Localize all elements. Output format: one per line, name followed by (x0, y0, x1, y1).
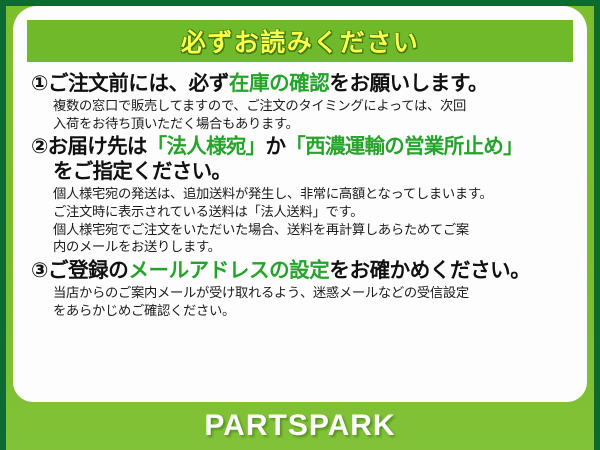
section-1-headline: ①ご注文前には、必ず在庫の確認をお願いします。 (31, 71, 567, 96)
section-3-headline: ③ご登録のメールアドレスの設定をお確かめください。 (31, 258, 567, 283)
notice-card: 必ずお読みください ①ご注文前には、必ず在庫の確認をお願いします。 複数の窓口で… (13, 6, 587, 402)
title-banner: 必ずお読みください (27, 20, 573, 62)
section-3-headline-post: をお確かめください。 (329, 259, 530, 282)
section-1-headline-pre: ご注文前には、必ず (48, 72, 229, 95)
section-2-headline-highlight: 「法人様宛」 (147, 135, 266, 158)
section-2-headline-post: をご指定ください。 (31, 159, 567, 184)
notice-body: 必ずお読みください ①ご注文前には、必ず在庫の確認をお願いします。 複数の窓口で… (6, 6, 594, 450)
title-text: 必ずお読みください (181, 23, 420, 59)
section-item-3: ③ご登録のメールアドレスの設定をお確かめください。 当店からのご案内メールが受け… (31, 258, 567, 319)
section-1-marker: ① (31, 72, 48, 95)
brand-logo-text: PARTSPARK (204, 409, 395, 443)
section-1-subtext: 複数の窓口で販売してますので、ご注文のタイミングによっては、次回 入荷をお待ち頂… (31, 97, 567, 132)
section-2-headline-mid: か (265, 135, 285, 158)
footer-brand-bar: PARTSPARK (6, 402, 594, 450)
section-3-headline-highlight: メールアドレスの設定 (128, 259, 329, 282)
section-2-headline-highlight-2: 「西濃運輸の営業所止め」 (285, 135, 523, 158)
section-3-marker: ③ (31, 259, 48, 282)
section-3-subtext: 当店からのご案内メールが受け取れるよう、迷惑メールなどの受信設定 をあらかじめご… (31, 284, 567, 319)
section-item-1: ①ご注文前には、必ず在庫の確認をお願いします。 複数の窓口で販売してますので、ご… (31, 71, 567, 132)
section-2-headline-pre: お届け先は (48, 135, 147, 158)
section-1-headline-post: をお願いします。 (329, 72, 488, 95)
section-2-headline: ②お届け先は「法人様宛」か「西濃運輸の営業所止め」をご指定ください。 (31, 134, 567, 184)
section-3-headline-pre: ご登録の (48, 259, 128, 282)
section-2-marker: ② (31, 135, 48, 158)
sections-list: ①ご注文前には、必ず在庫の確認をお願いします。 複数の窓口で販売してますので、ご… (27, 62, 573, 319)
notice-frame: 必ずお読みください ①ご注文前には、必ず在庫の確認をお願いします。 複数の窓口で… (0, 0, 600, 450)
section-1-headline-highlight: 在庫の確認 (229, 72, 330, 95)
section-2-subtext: 個人様宅宛の発送は、追加送料が発生し、非常に高額となってしまいます。 ご注文時に… (31, 185, 567, 256)
section-item-2: ②お届け先は「法人様宛」か「西濃運輸の営業所止め」をご指定ください。 個人様宅宛… (31, 134, 567, 256)
